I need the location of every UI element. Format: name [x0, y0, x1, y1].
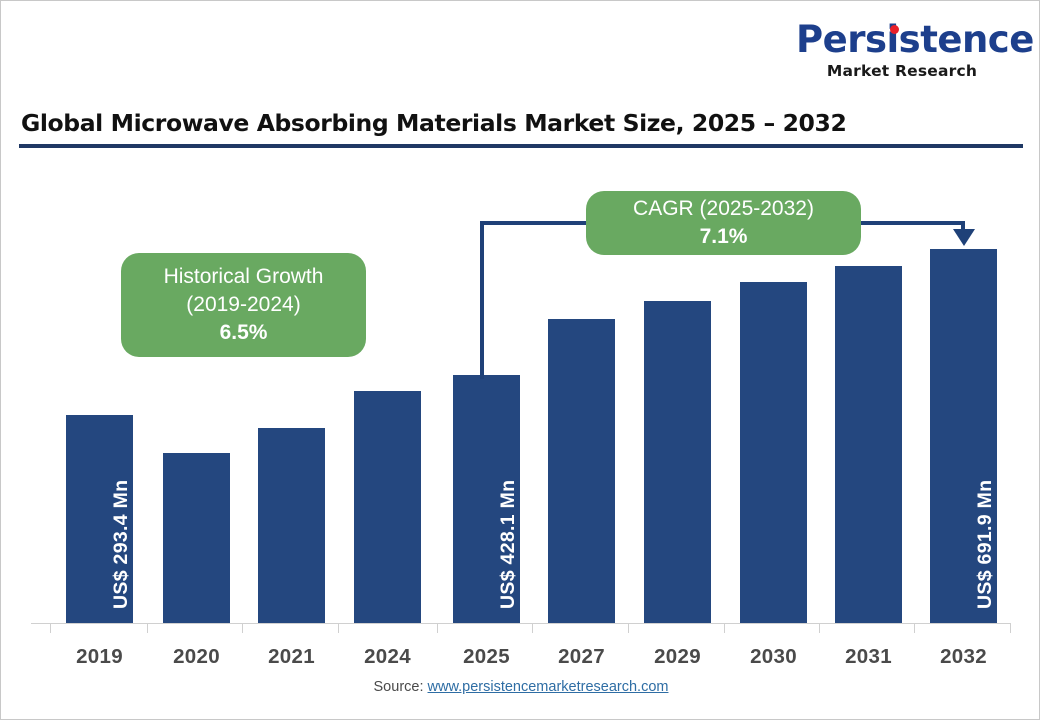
- x-tick-label-2030: 2030: [726, 645, 821, 669]
- bar-2020: [163, 453, 230, 623]
- bar-2027: [548, 319, 615, 623]
- axis-tick-2031: [819, 624, 820, 633]
- x-tick-label-2021: 2021: [244, 645, 339, 669]
- axis-tick-2030: [724, 624, 725, 633]
- bar-chart-plot-area: US$ 293.4 MnUS$ 428.1 MnUS$ 691.9 Mn 201…: [1, 1, 1040, 720]
- cagr-callout: CAGR (2025-2032) 7.1%: [586, 191, 861, 255]
- axis-tick-2029: [628, 624, 629, 633]
- bar-value-label-2032: US$ 691.9 Mn: [974, 480, 997, 609]
- x-tick-label-2019: 2019: [52, 645, 147, 669]
- axis-tick-end: [1010, 624, 1011, 633]
- x-tick-label-2029: 2029: [630, 645, 725, 669]
- bar-2024: [354, 391, 421, 623]
- historical-growth-callout: Historical Growth (2019-2024) 6.5%: [121, 253, 366, 357]
- axis-tick-2024: [338, 624, 339, 633]
- cagr-connector-horizontal-right: [853, 221, 965, 225]
- axis-tick-2020: [147, 624, 148, 633]
- x-tick-label-2025: 2025: [439, 645, 534, 669]
- source-link[interactable]: www.persistencemarketresearch.com: [428, 679, 669, 695]
- axis-tick-2021: [242, 624, 243, 633]
- cagr-connector-horizontal-left: [480, 221, 596, 225]
- bar-2029: [644, 301, 711, 623]
- bar-value-label-2025: US$ 428.1 Mn: [497, 480, 520, 609]
- x-tick-label-2031: 2031: [821, 645, 916, 669]
- axis-tick-2027: [532, 624, 533, 633]
- axis-tick-2019: [50, 624, 51, 633]
- axis-tick-2032: [914, 624, 915, 633]
- axis-tick-2025: [437, 624, 438, 633]
- cagr-value: 7.1%: [700, 223, 748, 251]
- historical-growth-line2: (2019-2024): [186, 291, 300, 319]
- bar-value-label-2019: US$ 293.4 Mn: [110, 480, 133, 609]
- chart-card: Persistence Market Research Global Micro…: [0, 0, 1040, 720]
- source-prefix: Source:: [374, 679, 428, 695]
- source-note: Source: www.persistencemarketresearch.co…: [1, 679, 1040, 695]
- x-axis-line: [31, 623, 1011, 624]
- x-tick-label-2027: 2027: [534, 645, 629, 669]
- bar-2030: [740, 282, 807, 623]
- x-tick-label-2032: 2032: [916, 645, 1011, 669]
- x-tick-label-2024: 2024: [340, 645, 435, 669]
- historical-growth-value: 6.5%: [220, 319, 268, 347]
- historical-growth-line1: Historical Growth: [164, 263, 324, 291]
- x-tick-label-2020: 2020: [149, 645, 244, 669]
- cagr-connector-vertical-left: [480, 221, 484, 379]
- bar-2021: [258, 428, 325, 623]
- cagr-arrow-icon: [953, 229, 975, 246]
- bar-2031: [835, 266, 902, 623]
- cagr-line1: CAGR (2025-2032): [633, 195, 814, 223]
